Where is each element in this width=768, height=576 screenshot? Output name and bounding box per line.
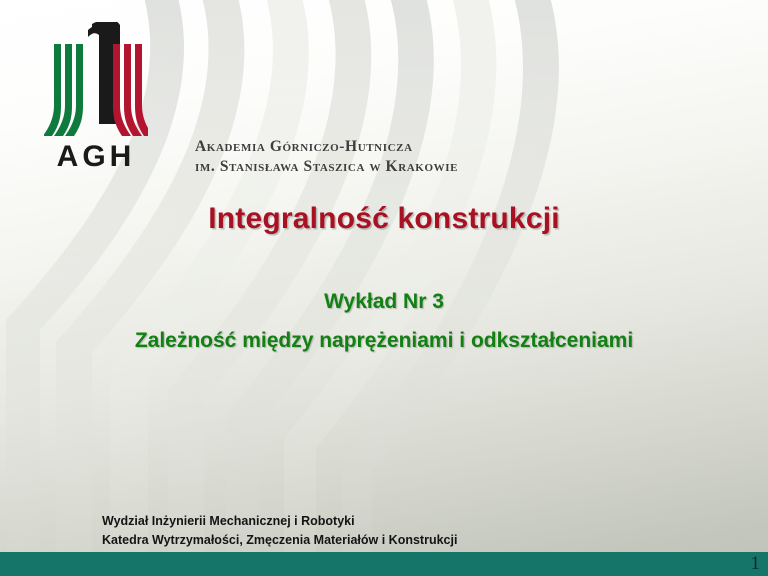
footer-affiliation: Wydział Inżynierii Mechanicznej i Roboty… [102,512,457,550]
university-name: Akademia Górniczo-Hutnicza im. Stanisław… [195,137,458,177]
agh-wordmark: AGH [44,140,148,174]
slide-title: Integralność konstrukcji [0,202,768,236]
university-name-line-1: Akademia Górniczo-Hutnicza [195,137,458,157]
page-number: 1 [720,552,760,576]
bottom-accent-band [0,552,768,576]
lecture-number: Wykład Nr 3 [0,290,768,314]
footer-line-faculty: Wydział Inżynierii Mechanicznej i Roboty… [102,512,457,531]
footer-line-department: Katedra Wytrzymałości, Zmęczenia Materia… [102,531,457,550]
lecture-topic: Zależność między naprężeniami i odkształ… [0,329,768,353]
agh-logo: AGH [44,22,148,180]
university-name-line-2: im. Stanisława Staszica w Krakowie [195,157,458,177]
presentation-slide: AGH Akademia Górniczo-Hutnicza im. Stani… [0,0,768,576]
agh-pillars-icon [44,22,148,140]
